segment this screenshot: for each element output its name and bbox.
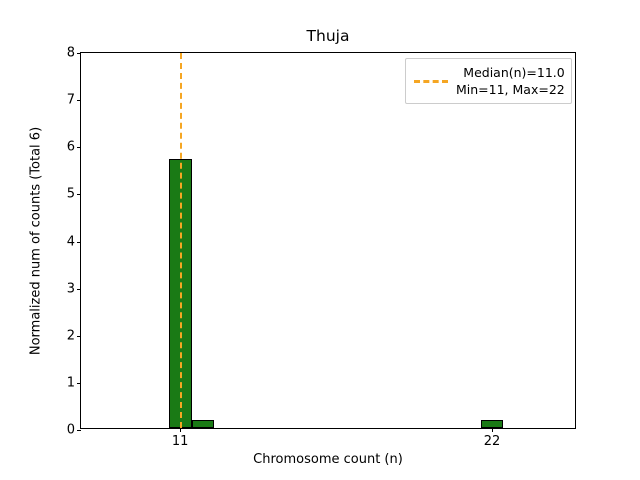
y-axis-label: Normalized num of counts (Total 6) — [29, 126, 44, 354]
y-tick-label: 1 — [67, 376, 75, 389]
legend-entry-minmax: Min=11, Max=22 — [456, 82, 565, 97]
y-tick-label: 2 — [67, 329, 75, 342]
x-tick-label: 22 — [484, 435, 501, 449]
y-tick-label: 6 — [67, 141, 75, 154]
y-tick-mark — [77, 430, 81, 431]
y-tick-label: 5 — [67, 188, 75, 201]
x-tick-label: 11 — [172, 435, 189, 449]
plot-area: Normalized num of counts (Total 6) 01234… — [80, 52, 576, 429]
median-line — [180, 53, 182, 428]
legend-text-group: Median(n)=11.0 Min=11, Max=22 — [456, 65, 565, 97]
chart-figure: Thuja Normalized num of counts (Total 6)… — [0, 0, 640, 480]
x-tick-mark — [492, 428, 493, 432]
y-tick-label: 4 — [67, 235, 75, 248]
x-tick-mark — [180, 428, 181, 432]
y-tick-label: 0 — [67, 424, 75, 437]
y-tick-label: 8 — [67, 47, 75, 60]
legend-entry-median: Median(n)=11.0 — [463, 65, 564, 80]
legend: Median(n)=11.0 Min=11, Max=22 — [405, 58, 572, 104]
x-axis-label: Chromosome count (n) — [80, 452, 576, 467]
y-tick-label: 7 — [67, 94, 75, 107]
y-tick-label: 3 — [67, 282, 75, 295]
median-line-layer — [81, 53, 575, 428]
median-line-swatch-icon — [414, 80, 448, 83]
chart-title: Thuja — [80, 27, 576, 45]
